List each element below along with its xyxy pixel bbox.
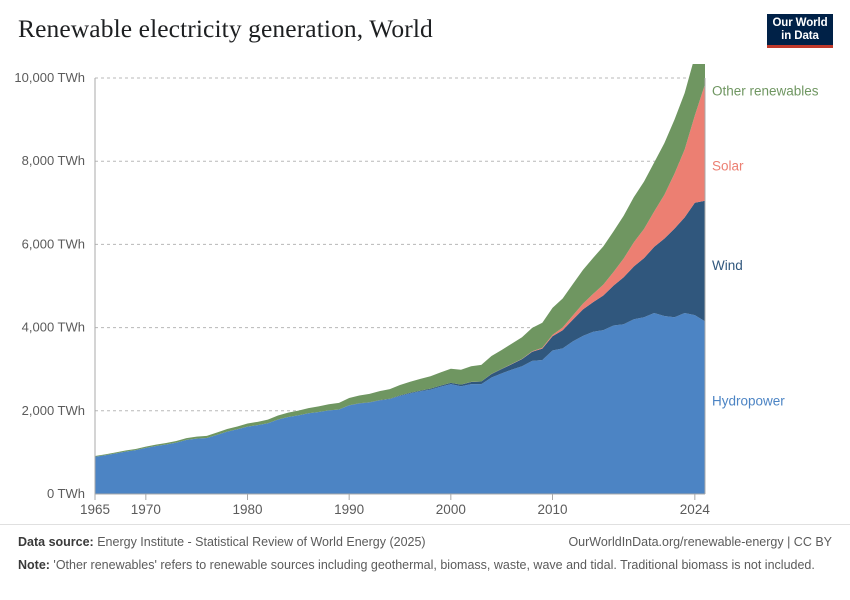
data-source: Data source: Energy Institute - Statisti… bbox=[18, 533, 426, 551]
y-tick-label: 4,000 TWh bbox=[22, 320, 85, 335]
page-title: Renewable electricity generation, World bbox=[18, 14, 433, 44]
owid-logo-line1: Our World bbox=[767, 17, 833, 30]
y-tick-label: 6,000 TWh bbox=[22, 236, 85, 251]
y-tick-label: 8,000 TWh bbox=[22, 153, 85, 168]
x-tick-label: 2000 bbox=[436, 502, 466, 516]
x-tick-label: 1965 bbox=[80, 502, 110, 516]
data-source-text: Energy Institute - Statistical Review of… bbox=[94, 535, 426, 549]
chart-header: Renewable electricity generation, World … bbox=[0, 0, 850, 64]
x-tick-label: 1990 bbox=[334, 502, 364, 516]
x-axis-tick-labels: 1965197019801990200020102024 bbox=[80, 502, 710, 516]
stacked-area-chart[interactable]: 0 TWh2,000 TWh4,000 TWh6,000 TWh8,000 TW… bbox=[0, 64, 850, 516]
x-tick-label: 1970 bbox=[131, 502, 161, 516]
series-label-other-renewables[interactable]: Other renewables bbox=[712, 83, 819, 98]
y-tick-label: 2,000 TWh bbox=[22, 403, 85, 418]
y-axis-tick-labels: 0 TWh2,000 TWh4,000 TWh6,000 TWh8,000 TW… bbox=[14, 70, 85, 501]
x-tick-label: 1980 bbox=[232, 502, 262, 516]
footer-source-row: Data source: Energy Institute - Statisti… bbox=[18, 533, 832, 551]
chart-footer: Data source: Energy Institute - Statisti… bbox=[0, 524, 850, 600]
note-text: 'Other renewables' refers to renewable s… bbox=[50, 558, 815, 572]
y-tick-label: 0 TWh bbox=[47, 486, 85, 501]
owid-logo[interactable]: Our World in Data bbox=[767, 14, 833, 48]
data-source-label: Data source: bbox=[18, 535, 94, 549]
y-tick-label: 10,000 TWh bbox=[14, 70, 85, 85]
area-series-group[interactable] bbox=[95, 64, 705, 494]
note-label: Note: bbox=[18, 558, 50, 572]
series-label-wind[interactable]: Wind bbox=[712, 258, 743, 273]
footer-note: Note: 'Other renewables' refers to renew… bbox=[18, 557, 818, 573]
series-label-solar[interactable]: Solar bbox=[712, 158, 744, 173]
source-url[interactable]: OurWorldInData.org/renewable-energy | CC… bbox=[568, 533, 832, 551]
owid-logo-line2: in Data bbox=[767, 30, 833, 43]
chart-page: Renewable electricity generation, World … bbox=[0, 0, 850, 600]
x-tick-label: 2024 bbox=[680, 502, 711, 516]
area-hydropower[interactable] bbox=[95, 313, 705, 494]
series-label-hydropower[interactable]: Hydropower bbox=[712, 393, 785, 408]
x-tick-label: 2010 bbox=[537, 502, 567, 516]
chart-plot-area: 0 TWh2,000 TWh4,000 TWh6,000 TWh8,000 TW… bbox=[0, 64, 850, 516]
series-labels[interactable]: HydropowerWindSolarOther renewables bbox=[712, 83, 819, 408]
